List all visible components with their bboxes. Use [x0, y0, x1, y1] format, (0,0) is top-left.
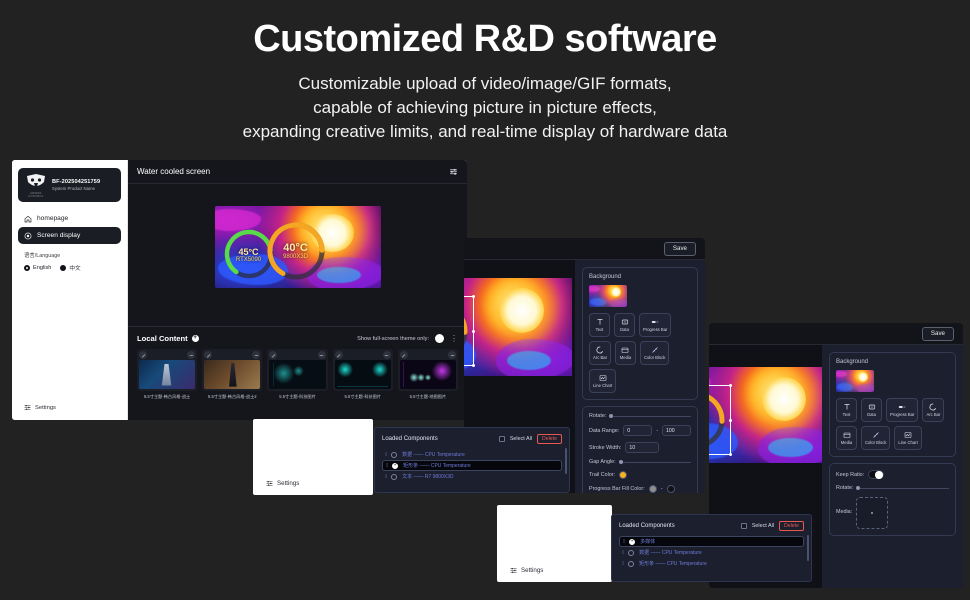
gap-angle-row: Gap Angle: — [589, 459, 691, 465]
sliders-icon — [266, 480, 273, 487]
stroke-width-input[interactable]: 10 — [625, 442, 659, 453]
sidebar-item-label: homepage — [37, 215, 68, 222]
fill-color-to-swatch[interactable] — [667, 485, 675, 493]
device-card[interactable]: ARMOR CONTROL BF-202504251759 System Pro… — [18, 168, 121, 202]
local-content-header: Local Content + Show full-screen theme o… — [137, 334, 458, 343]
row-checkbox[interactable] — [628, 550, 634, 556]
tool-media[interactable]: Media — [836, 426, 857, 450]
local-content-title: Local Content — [137, 334, 188, 343]
radio-dot-icon — [24, 265, 30, 271]
background-group: Background Text Data Progress Ba — [582, 267, 698, 400]
canvas-artwork: 48°C 9800X3D — [464, 278, 572, 376]
trail-color-label: Trail Color: — [589, 472, 615, 478]
editor-toolbar: Save — [709, 323, 963, 345]
arc-bar-icon — [596, 346, 604, 354]
keep-ratio-toggle[interactable] — [868, 470, 884, 479]
edit-icon[interactable] — [204, 351, 212, 359]
settings-button[interactable]: Settings — [266, 480, 299, 487]
more-icon[interactable] — [318, 351, 326, 359]
row-checkbox[interactable] — [391, 452, 397, 458]
drag-handle-icon[interactable]: ⁞⁞ — [623, 539, 624, 545]
text-icon — [596, 318, 604, 326]
drag-handle-icon[interactable]: ⁞⁞ — [622, 561, 623, 567]
fill-color-from-swatch[interactable] — [649, 485, 657, 493]
loaded-components-panel-1: Loaded Components Select All Delete ⁞⁞ 数… — [374, 427, 570, 493]
sliders-icon[interactable] — [449, 167, 458, 176]
sidebar-nav: homepage Screen display — [12, 210, 127, 244]
radio-english[interactable]: English — [24, 265, 51, 271]
list-item-label: 矩形条 —— CPU Temperature — [639, 560, 707, 567]
fill-color-row: Progress Bar Fill Color: - — [589, 485, 691, 493]
thumbnail-caption: 5.5寸主题-科技图片 — [333, 394, 393, 400]
more-icon[interactable] — [187, 351, 195, 359]
sidebar-item-label: Screen display — [37, 232, 80, 239]
select-all-label: Select All — [752, 523, 774, 529]
editor-properties-panel: Background Text Data Progress Ba — [575, 260, 705, 493]
monitor-icon — [24, 232, 32, 240]
tool-label: Arc Bar — [593, 355, 607, 360]
select-all-checkbox[interactable] — [499, 436, 505, 442]
trail-color-swatch[interactable] — [619, 471, 627, 479]
loaded-components-header: Loaded Components Select All Delete — [382, 434, 562, 444]
thumbnail-caption: 5.5寸主题-科技图片 — [267, 394, 327, 400]
background-group: Background Text Data Progress Ba — [829, 352, 956, 457]
progress-bar-icon — [651, 318, 659, 326]
tool-label: Line Chart — [898, 440, 917, 445]
background-thumbnail[interactable] — [836, 370, 874, 392]
list-item-label: 数据 —— CPU Temperature — [402, 451, 465, 458]
arc-bar-icon — [929, 403, 937, 411]
rotate-row: Rotate: — [589, 413, 691, 419]
home-icon — [24, 215, 32, 223]
tool-progress-bar[interactable]: Progress Bar — [886, 398, 918, 422]
data-icon — [868, 403, 876, 411]
tool-text[interactable]: Text — [836, 398, 857, 422]
data-range-label: Data Range: — [589, 428, 619, 434]
row-checkbox[interactable] — [628, 561, 634, 567]
rotate-label: Rotate: — [836, 485, 853, 491]
tool-label: Line Chart — [593, 383, 612, 388]
editor-toolbar: Save — [464, 238, 705, 260]
settings-card-1: Settings — [253, 419, 373, 495]
screen-preview-wrap: 45°C RTX5090 40°C 9800X3D — [128, 184, 467, 288]
stroke-width-label: Stroke Width: — [589, 445, 621, 451]
list-item[interactable]: ⁞⁞ 矩形条 —— CPU Temperature — [619, 558, 804, 569]
editor-properties-panel: Background Text Data Progress Ba — [822, 345, 963, 588]
component-tool-grid: Text Data Progress Bar Arc Bar — [589, 313, 691, 393]
fullscreen-filter-toggle[interactable] — [435, 334, 444, 343]
trail-color-row: Trail Color: — [589, 471, 691, 479]
settings-card-2: Settings — [497, 505, 612, 582]
app-main-area: Water cooled screen 45°C — [128, 160, 467, 420]
range-dash: - — [656, 428, 658, 434]
tool-data[interactable]: Data — [614, 313, 635, 337]
progress-bar-icon — [898, 403, 906, 411]
sidebar-item-homepage[interactable]: homepage — [18, 210, 121, 227]
thumbnail-caption: 5.5寸主题-韩古风格-战士2 — [202, 394, 262, 400]
drag-handle-icon[interactable]: ⁞⁞ — [385, 452, 386, 458]
local-content-title-group: Local Content + — [137, 334, 199, 343]
tool-label: Data — [867, 412, 876, 417]
sidebar-item-screen-display[interactable]: Screen display — [18, 227, 121, 244]
text-icon — [843, 403, 851, 411]
list-item[interactable]: ⁞⁞ 数据 —— CPU Temperature — [619, 547, 804, 558]
tool-arc-bar[interactable]: Arc Bar — [589, 341, 611, 365]
edit-icon[interactable] — [139, 351, 147, 359]
media-icon — [621, 346, 629, 354]
tool-label: Media — [620, 355, 631, 360]
rotate-slider[interactable] — [610, 416, 691, 417]
edit-icon[interactable] — [335, 351, 343, 359]
list-item[interactable]: 5.5寸主题-科技图片 — [267, 349, 327, 400]
local-content-controls: Show full-screen theme only: ⋮ — [357, 334, 458, 343]
tool-label: Color Block — [865, 440, 886, 445]
thumbnail-image — [335, 360, 391, 389]
rotate-label: Rotate: — [589, 413, 606, 419]
list-item[interactable]: ⁞⁞ 数据 —— CPU Temperature — [382, 449, 562, 460]
gauge-cpu[interactable]: 40°C 9800X3D — [265, 220, 327, 282]
radio-label: 中文 — [69, 264, 80, 272]
data-range-max-input[interactable]: 100 — [662, 425, 691, 436]
background-title: Background — [836, 359, 949, 365]
select-all-checkbox[interactable] — [741, 523, 747, 529]
loaded-components-list: ⁞⁞ 多媒体 ⁞⁞ 数据 —— CPU Temperature ⁞⁞ 矩形条 —… — [619, 536, 804, 569]
color-block-icon — [872, 431, 880, 439]
keep-ratio-row: Keep Ratio: — [836, 470, 949, 479]
kebab-icon[interactable]: ⋮ — [450, 336, 458, 342]
sliders-icon — [510, 567, 517, 574]
loaded-components-title: Loaded Components — [382, 436, 438, 442]
media-label: Media: — [836, 509, 852, 515]
save-button[interactable]: Save — [664, 242, 696, 256]
list-item-label: 多媒体 — [640, 538, 655, 545]
canvas-artwork: 47°C 9800X3D — [709, 367, 822, 463]
line-chart-icon — [599, 374, 607, 382]
list-item[interactable]: ⁞⁞ 矩形条 —— CPU Temperature — [382, 460, 562, 471]
tool-label: Text — [596, 327, 604, 332]
selection-box[interactable] — [709, 385, 731, 455]
tool-label: Progress Bar — [643, 327, 667, 332]
thumbnail-image — [269, 360, 325, 389]
tool-color-block[interactable]: Color Block — [640, 341, 669, 365]
thumbnail-image — [400, 360, 456, 389]
save-button[interactable]: Save — [922, 327, 954, 341]
background-thumbnail[interactable] — [589, 285, 627, 307]
list-item[interactable]: 5.5寸主题-地图图片 — [398, 349, 458, 400]
loaded-components-title: Loaded Components — [619, 523, 675, 529]
color-block-icon — [651, 346, 659, 354]
thumbnail-image — [139, 360, 195, 389]
brand-name: ARMOR CONTROL — [23, 192, 49, 198]
tool-line-chart[interactable]: Line Chart — [894, 426, 921, 450]
tool-label: Text — [843, 412, 851, 417]
component-tool-grid: Text Data Progress Bar Arc Bar — [836, 398, 949, 450]
brand-logo-icon: ARMOR CONTROL — [23, 173, 49, 197]
drag-handle-icon[interactable]: ⁞⁞ — [622, 550, 623, 556]
tool-label: Progress Bar — [890, 412, 914, 417]
tool-media[interactable]: Media — [615, 341, 636, 365]
tool-progress-bar[interactable]: Progress Bar — [639, 313, 671, 337]
thumbnail-caption: 5.5寸主题-韩古风格-战士 — [137, 394, 197, 400]
list-item[interactable]: ⁞⁞ 多媒体 — [619, 536, 804, 547]
plus-icon[interactable]: + — [192, 335, 199, 342]
list-item-label: 数据 —— CPU Temperature — [639, 549, 702, 556]
hero-subtitle: Customizable upload of video/image/GIF f… — [0, 72, 970, 144]
tool-text[interactable]: Text — [589, 313, 610, 337]
fill-dash: - — [661, 486, 663, 492]
line-chart-icon — [904, 431, 912, 439]
local-content-section: Local Content + Show full-screen theme o… — [128, 326, 467, 420]
hero-section: Customized R&D software Customizable upl… — [0, 0, 970, 144]
media-upload-box[interactable] — [856, 497, 888, 529]
select-all-label: Select All — [510, 436, 532, 442]
tool-label: Media — [841, 440, 852, 445]
row-checkbox[interactable] — [392, 463, 398, 469]
fullscreen-filter-label: Show full-screen theme only: — [357, 336, 429, 342]
loaded-components-list: ⁞⁞ 数据 —— CPU Temperature ⁞⁞ 矩形条 —— CPU T… — [382, 449, 562, 482]
settings-button[interactable]: Settings — [510, 567, 543, 574]
theme-thumbnail-list: 5.5寸主题-韩古风格-战士 5.5寸主题-韩古风格-战士2 — [137, 349, 458, 400]
tool-label: Color Block — [644, 355, 665, 360]
gap-angle-label: Gap Angle: — [589, 459, 616, 465]
screen-preview[interactable]: 45°C RTX5090 40°C 9800X3D — [215, 206, 381, 288]
gap-angle-slider[interactable] — [620, 462, 691, 463]
drag-handle-icon[interactable]: ⁞⁞ — [385, 474, 386, 480]
settings-label: Settings — [35, 405, 56, 411]
main-header: Water cooled screen — [128, 160, 467, 184]
settings-label: Settings — [521, 567, 543, 574]
tool-label: Data — [620, 327, 629, 332]
main-header-title: Water cooled screen — [137, 167, 210, 176]
arc-properties-group: Rotate: Data Range: 0 - 100 Stroke Width… — [582, 406, 698, 493]
more-icon[interactable] — [383, 351, 391, 359]
list-item-label: 文本 —— R7 9800X3D — [402, 473, 453, 480]
hero-subtitle-line-2: capable of achieving picture in picture … — [0, 96, 970, 120]
rotate-row: Rotate: — [836, 485, 949, 491]
radio-label: English — [33, 265, 51, 271]
page-title: Customized R&D software — [0, 18, 970, 62]
media-row: Media: — [836, 497, 949, 529]
selection-box[interactable] — [464, 296, 474, 366]
tool-arc-bar[interactable]: Arc Bar — [922, 398, 944, 422]
list-item[interactable]: 5.5寸主题-科技图片 — [333, 349, 393, 400]
radio-dot-icon — [60, 265, 66, 271]
scrollbar[interactable] — [565, 448, 567, 474]
edit-icon[interactable] — [269, 351, 277, 359]
sidebar-settings-button[interactable]: Settings — [24, 404, 56, 411]
media-properties-group: Keep Ratio: Rotate: Media: — [829, 463, 956, 536]
radio-chinese[interactable]: 中文 — [60, 264, 80, 272]
data-range-row: Data Range: 0 - 100 — [589, 425, 691, 436]
device-name: System Product Name — [52, 186, 100, 191]
hero-subtitle-line-1: Customizable upload of video/image/GIF f… — [0, 72, 970, 96]
app-sidebar: ARMOR CONTROL BF-202504251759 System Pro… — [12, 160, 128, 420]
loaded-components-header: Loaded Components Select All Delete — [619, 521, 804, 531]
list-item-label: 矩形条 —— CPU Temperature — [403, 462, 471, 469]
data-icon — [621, 318, 629, 326]
language-label: 语言/Language — [24, 251, 127, 259]
gauge-cpu-value: 40°C — [265, 242, 327, 254]
main-app-window: ARMOR CONTROL BF-202504251759 System Pro… — [12, 160, 467, 420]
scrollbar[interactable] — [807, 535, 809, 561]
fill-color-label: Progress Bar Fill Color: — [589, 486, 645, 492]
row-checkbox[interactable] — [391, 474, 397, 480]
tool-color-block[interactable]: Color Block — [861, 426, 890, 450]
stroke-width-row: Stroke Width: 10 — [589, 442, 691, 453]
rotate-slider[interactable] — [857, 488, 949, 489]
settings-label: Settings — [277, 480, 299, 487]
loaded-components-panel-2: Loaded Components Select All Delete ⁞⁞ 多… — [611, 514, 812, 582]
language-radio-group: English 中文 — [24, 264, 127, 272]
edit-icon[interactable] — [400, 351, 408, 359]
media-icon — [843, 431, 851, 439]
tool-label: Arc Bar — [926, 412, 940, 417]
list-item[interactable]: ⁞⁞ 文本 —— R7 9800X3D — [382, 471, 562, 482]
more-icon[interactable] — [448, 351, 456, 359]
list-item[interactable]: 5.5寸主题-韩古风格-战士2 — [202, 349, 262, 400]
hero-subtitle-line-3: expanding creative limits, and real-time… — [0, 120, 970, 144]
drag-handle-icon[interactable]: ⁞⁞ — [386, 463, 387, 469]
keep-ratio-label: Keep Ratio: — [836, 472, 864, 478]
device-id: BF-202504251759 — [52, 179, 100, 185]
tool-data[interactable]: Data — [861, 398, 882, 422]
list-item[interactable]: 5.5寸主题-韩古风格-战士 — [137, 349, 197, 400]
data-range-min-input[interactable]: 0 — [623, 425, 652, 436]
more-icon[interactable] — [252, 351, 260, 359]
sliders-icon — [24, 404, 31, 411]
delete-button[interactable]: Delete — [779, 521, 804, 531]
delete-button[interactable]: Delete — [537, 434, 562, 444]
tool-line-chart[interactable]: Line Chart — [589, 369, 616, 393]
thumbnail-image — [204, 360, 260, 389]
gauge-cpu-label: 9800X3D — [265, 254, 327, 260]
background-title: Background — [589, 274, 691, 280]
row-checkbox[interactable] — [629, 539, 635, 545]
thumbnail-caption: 5.5寸主题-地图图片 — [398, 394, 458, 400]
